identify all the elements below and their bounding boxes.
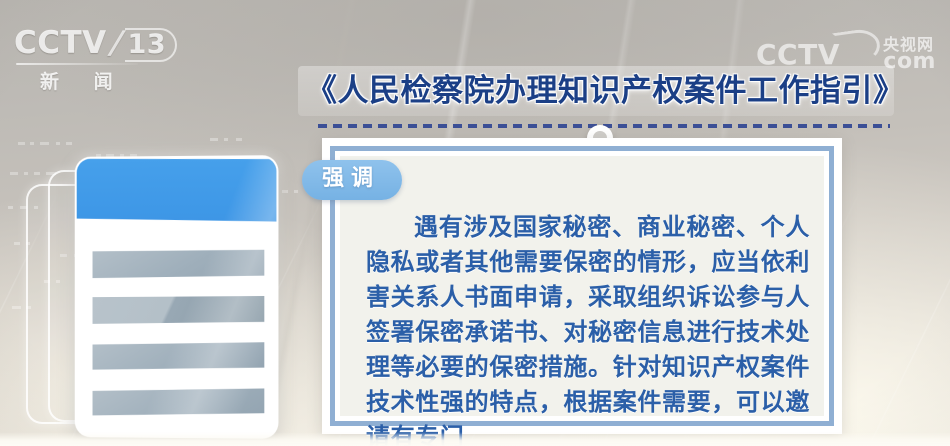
status-badge: 强调 xyxy=(302,160,402,200)
document-text-bar xyxy=(93,342,265,371)
document-text-bar xyxy=(93,296,265,324)
news-graphic-stage: CCTV/13 新 闻 CCTV 央视网 com 《人民检察院办理知识产权案件工… xyxy=(0,0,950,446)
content-paragraph: 遇有涉及国家秘密、商业秘密、个人隐私或者其他需要保密的情形，应当依利害关系人书面… xyxy=(366,210,810,446)
cctv13-slash-icon: / xyxy=(106,26,128,60)
cctv13-number: 13 xyxy=(125,28,177,62)
cctv13-logo-row: CCTV/13 xyxy=(14,26,164,62)
cctv13-channel-logo: CCTV/13 新 闻 xyxy=(14,26,164,88)
page-title: 《人民检察院办理知识产权案件工作指引》 xyxy=(306,68,886,114)
document-card-header xyxy=(77,157,277,222)
cctv13-underline xyxy=(16,63,138,65)
document-front-card xyxy=(75,155,279,439)
cctv13-subtitle: 新 闻 xyxy=(14,67,164,94)
document-text-bar xyxy=(93,388,265,417)
content-panel-field: 遇有涉及国家秘密、商业秘密、个人隐私或者其他需要保密的情形，应当依利害关系人书面… xyxy=(340,156,824,416)
document-stack-icon xyxy=(8,148,308,438)
content-panel-border: 遇有涉及国家秘密、商业秘密、个人隐私或者其他需要保密的情形，应当依利害关系人书面… xyxy=(330,146,834,426)
document-text-bar xyxy=(93,250,265,278)
cctv-wordmark: CCTV xyxy=(14,25,107,61)
bottom-light-strip xyxy=(0,432,950,446)
